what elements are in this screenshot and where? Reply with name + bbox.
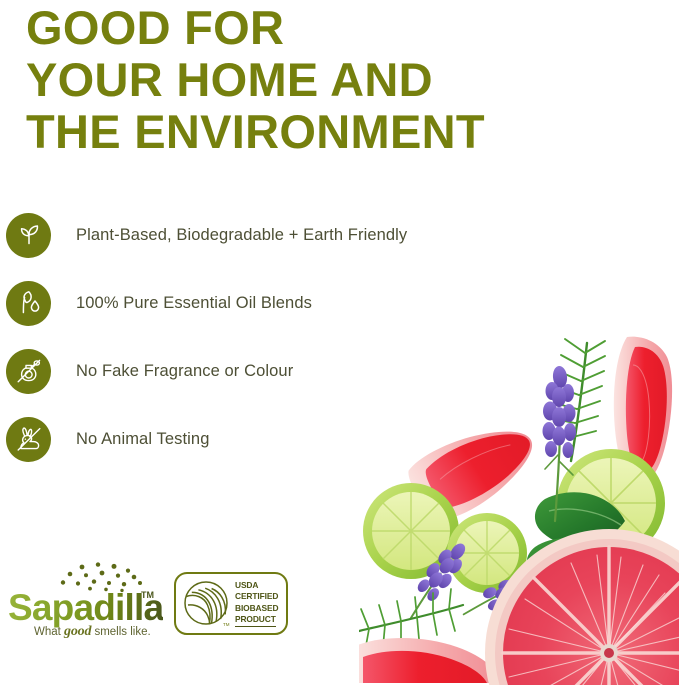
mint-leaf — [535, 492, 625, 545]
grapefruit-wedge — [359, 638, 499, 683]
tagline-emphasis: good — [64, 624, 91, 639]
lavender-sprig — [397, 536, 474, 624]
usda-line-1: USDA — [235, 580, 287, 591]
usda-line-2: CERTIFIED — [235, 591, 287, 602]
list-item-label: 100% Pure Essential Oil Blends — [76, 293, 312, 313]
sapadilla-logo: Sapadilla TM What good smells like. — [8, 562, 160, 650]
rosemary-sprig — [359, 589, 463, 651]
plant-leaf-icon — [6, 213, 51, 258]
sapadilla-trademark: TM — [141, 590, 154, 600]
no-animal-testing-rabbit-icon — [6, 417, 51, 462]
mint-leaf — [527, 538, 615, 593]
rosemary-sprig — [552, 339, 605, 461]
sapadilla-tagline: What good smells like. — [34, 624, 151, 640]
usda-seal-text: USDA CERTIFIED BIOBASED PRODUCT — [235, 580, 287, 627]
feature-list: Plant-Based, Biodegradable + Earth Frien… — [6, 201, 526, 473]
page-title: GOOD FOR YOUR HOME AND THE ENVIRONMENT — [26, 2, 646, 158]
headline-line-2: YOUR HOME AND — [26, 54, 646, 106]
tagline-before: What — [34, 626, 64, 638]
logo-row: Sapadilla TM What good smells like. USDA… — [0, 552, 330, 662]
usda-trademark: TM — [223, 622, 230, 627]
list-item: 100% Pure Essential Oil Blends — [6, 269, 526, 337]
no-fragrance-bottle-icon — [6, 349, 51, 394]
usda-line-4: PRODUCT — [235, 614, 276, 627]
lime-slice — [447, 513, 527, 593]
tagline-after: smells like. — [91, 626, 150, 638]
usda-line-3: BIOBASED — [235, 603, 287, 614]
list-item: No Animal Testing — [6, 405, 526, 473]
list-item-label: No Fake Fragrance or Colour — [76, 361, 293, 381]
list-item: No Fake Fragrance or Colour — [6, 337, 526, 405]
grapefruit-half — [485, 529, 679, 685]
lavender-sprig — [458, 573, 529, 623]
leaf-droplet-icon — [6, 281, 51, 326]
headline-line-1: GOOD FOR — [26, 2, 646, 54]
sapadilla-wordmark: Sapadilla — [8, 588, 163, 628]
lavender-sprig — [543, 365, 577, 521]
grapefruit-wedge — [614, 337, 672, 485]
list-item: Plant-Based, Biodegradable + Earth Frien… — [6, 201, 526, 269]
list-item-label: No Animal Testing — [76, 429, 209, 449]
mint-leaf — [501, 615, 585, 670]
lime-slice — [363, 483, 459, 579]
headline-line-3: THE ENVIRONMENT — [26, 106, 646, 158]
list-item-label: Plant-Based, Biodegradable + Earth Frien… — [76, 225, 407, 245]
usda-biobased-seal: USDA CERTIFIED BIOBASED PRODUCT TM — [174, 572, 288, 635]
lime-slice — [557, 449, 665, 557]
